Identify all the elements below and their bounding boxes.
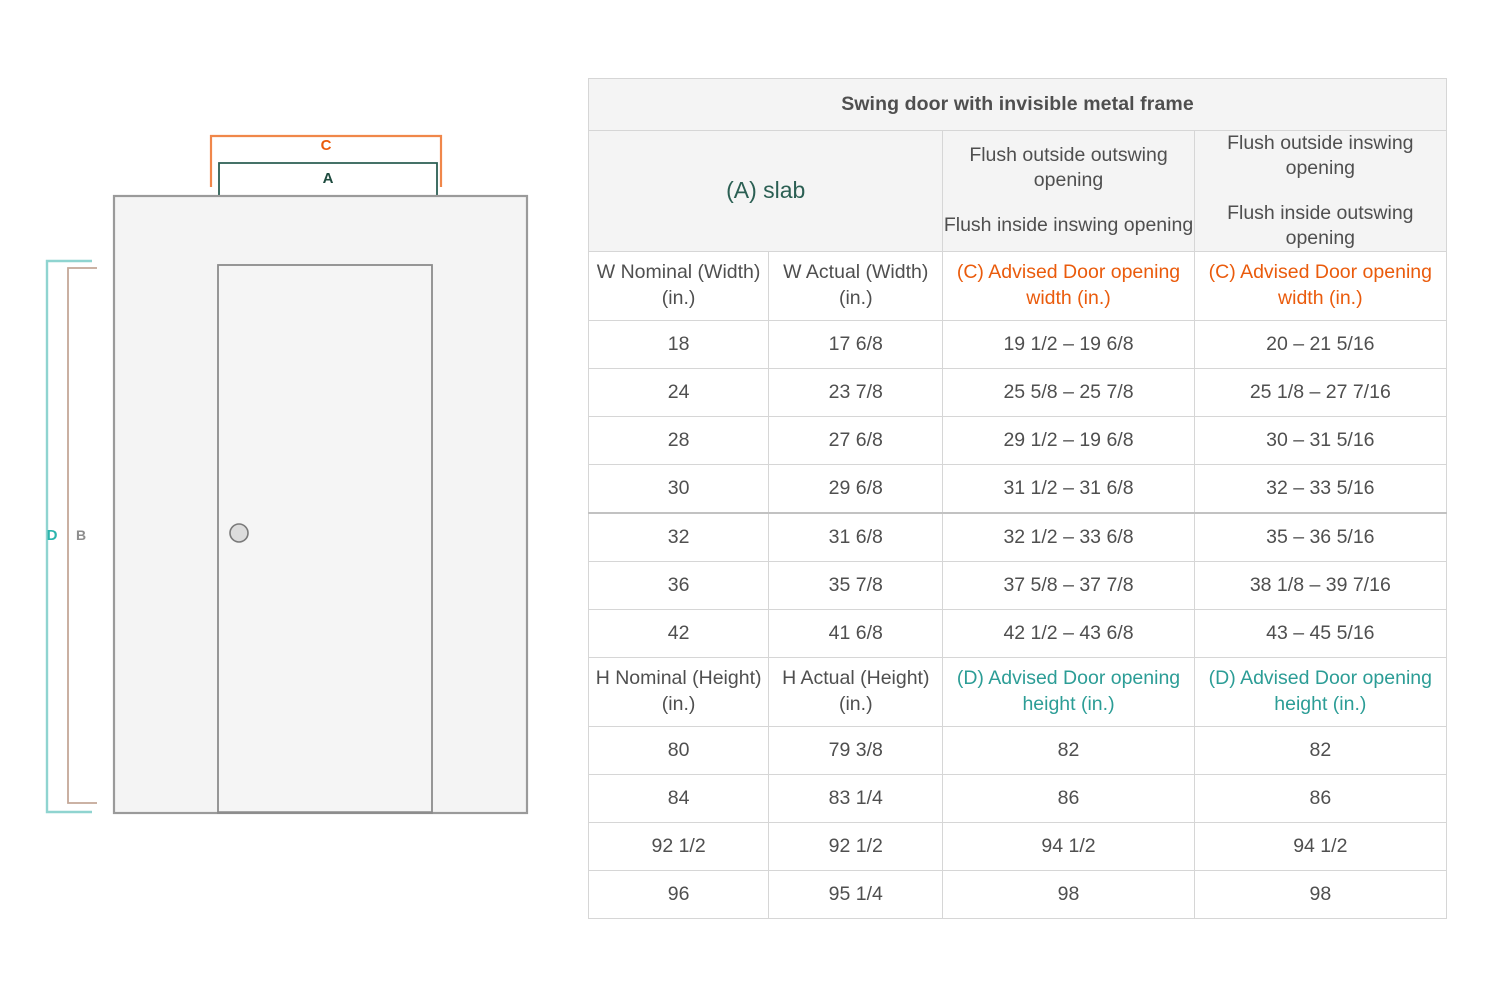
door-diagram: C A D B xyxy=(0,0,570,1000)
header-inswing-line2: Flush inside outswing opening xyxy=(1195,201,1446,251)
cell-c-outswing: 32 1/2 – 33 6/8 xyxy=(943,513,1194,562)
cell-w-actual: 41 6/8 xyxy=(769,609,943,657)
table-row: 30 29 6/8 31 1/2 – 31 6/8 32 – 33 5/16 xyxy=(589,464,1447,513)
cell-w-nominal: 24 xyxy=(589,368,769,416)
table-row: 18 17 6/8 19 1/2 – 19 6/8 20 – 21 5/16 xyxy=(589,320,1447,368)
subheader-w-actual: W Actual (Width) (in.) xyxy=(769,251,943,320)
table-title-row: Swing door with invisible metal frame xyxy=(589,79,1447,131)
cell-d-outswing: 82 xyxy=(943,726,1194,774)
cell-h-nominal: 92 1/2 xyxy=(589,822,769,870)
cell-h-nominal: 80 xyxy=(589,726,769,774)
header-outswing-line1: Flush outside outswing opening xyxy=(943,143,1193,193)
subheader-c-width-inswing: (C) Advised Door opening width (in.) xyxy=(1194,251,1446,320)
table-row: 92 1/2 92 1/2 94 1/2 94 1/2 xyxy=(589,822,1447,870)
cell-w-nominal: 30 xyxy=(589,464,769,513)
group-header-row: (A) slab Flush outside outswing opening … xyxy=(589,131,1447,252)
table-row: 36 35 7/8 37 5/8 – 37 7/8 38 1/8 – 39 7/… xyxy=(589,561,1447,609)
label-a: A xyxy=(323,170,334,187)
cell-c-inswing: 43 – 45 5/16 xyxy=(1194,609,1446,657)
cell-w-nominal: 36 xyxy=(589,561,769,609)
table-row: 28 27 6/8 29 1/2 – 19 6/8 30 – 31 5/16 xyxy=(589,416,1447,464)
cell-c-inswing: 38 1/8 – 39 7/16 xyxy=(1194,561,1446,609)
label-d: D xyxy=(47,527,58,544)
cell-w-nominal: 18 xyxy=(589,320,769,368)
cell-h-nominal: 96 xyxy=(589,870,769,918)
cell-w-actual: 17 6/8 xyxy=(769,320,943,368)
header-inswing-line1: Flush outside inswing opening xyxy=(1195,131,1446,181)
door-size-table: Swing door with invisible metal frame (A… xyxy=(588,78,1447,919)
table-row: 32 31 6/8 32 1/2 – 33 6/8 35 – 36 5/16 xyxy=(589,513,1447,562)
cell-c-outswing: 42 1/2 – 43 6/8 xyxy=(943,609,1194,657)
cell-w-actual: 31 6/8 xyxy=(769,513,943,562)
height-subheader-row: H Nominal (Height) (in.) H Actual (Heigh… xyxy=(589,657,1447,726)
cell-w-nominal: 28 xyxy=(589,416,769,464)
cell-h-nominal: 84 xyxy=(589,774,769,822)
cell-w-actual: 29 6/8 xyxy=(769,464,943,513)
table-row: 24 23 7/8 25 5/8 – 25 7/8 25 1/8 – 27 7/… xyxy=(589,368,1447,416)
cell-c-outswing: 25 5/8 – 25 7/8 xyxy=(943,368,1194,416)
subheader-d-height-outswing: (D) Advised Door opening height (in.) xyxy=(943,657,1194,726)
subheader-d-height-inswing: (D) Advised Door opening height (in.) xyxy=(1194,657,1446,726)
cell-d-inswing: 94 1/2 xyxy=(1194,822,1446,870)
subheader-w-nominal: W Nominal (Width) (in.) xyxy=(589,251,769,320)
cell-w-actual: 27 6/8 xyxy=(769,416,943,464)
cell-h-actual: 92 1/2 xyxy=(769,822,943,870)
spec-table-container: Swing door with invisible metal frame (A… xyxy=(588,78,1447,919)
cell-d-inswing: 98 xyxy=(1194,870,1446,918)
cell-c-inswing: 20 – 21 5/16 xyxy=(1194,320,1446,368)
cell-w-nominal: 42 xyxy=(589,609,769,657)
cell-c-inswing: 35 – 36 5/16 xyxy=(1194,513,1446,562)
door-handle xyxy=(230,524,248,542)
cell-d-inswing: 86 xyxy=(1194,774,1446,822)
subheader-c-width-outswing: (C) Advised Door opening width (in.) xyxy=(943,251,1194,320)
table-title: Swing door with invisible metal frame xyxy=(589,79,1447,131)
subheader-h-actual: H Actual (Height) (in.) xyxy=(769,657,943,726)
cell-d-outswing: 98 xyxy=(943,870,1194,918)
cell-c-inswing: 32 – 33 5/16 xyxy=(1194,464,1446,513)
cell-c-outswing: 31 1/2 – 31 6/8 xyxy=(943,464,1194,513)
label-b: B xyxy=(76,527,86,543)
table-row: 84 83 1/4 86 86 xyxy=(589,774,1447,822)
cell-d-outswing: 86 xyxy=(943,774,1194,822)
header-inswing-group: Flush outside inswing opening Flush insi… xyxy=(1194,131,1446,252)
cell-c-outswing: 29 1/2 – 19 6/8 xyxy=(943,416,1194,464)
header-slab: (A) slab xyxy=(589,131,943,252)
header-outswing-line2: Flush inside inswing opening xyxy=(943,213,1193,238)
cell-w-actual: 35 7/8 xyxy=(769,561,943,609)
cell-h-actual: 79 3/8 xyxy=(769,726,943,774)
cell-h-actual: 83 1/4 xyxy=(769,774,943,822)
subheader-h-nominal: H Nominal (Height) (in.) xyxy=(589,657,769,726)
door-slab xyxy=(218,265,432,813)
cell-c-inswing: 30 – 31 5/16 xyxy=(1194,416,1446,464)
label-c: C xyxy=(321,137,332,154)
table-row: 42 41 6/8 42 1/2 – 43 6/8 43 – 45 5/16 xyxy=(589,609,1447,657)
cell-c-outswing: 37 5/8 – 37 7/8 xyxy=(943,561,1194,609)
cell-d-outswing: 94 1/2 xyxy=(943,822,1194,870)
header-outswing-group: Flush outside outswing opening Flush ins… xyxy=(943,131,1194,252)
width-subheader-row: W Nominal (Width) (in.) W Actual (Width)… xyxy=(589,251,1447,320)
cell-c-outswing: 19 1/2 – 19 6/8 xyxy=(943,320,1194,368)
cell-c-inswing: 25 1/8 – 27 7/16 xyxy=(1194,368,1446,416)
table-row: 80 79 3/8 82 82 xyxy=(589,726,1447,774)
cell-h-actual: 95 1/4 xyxy=(769,870,943,918)
cell-w-actual: 23 7/8 xyxy=(769,368,943,416)
cell-w-nominal: 32 xyxy=(589,513,769,562)
cell-d-inswing: 82 xyxy=(1194,726,1446,774)
table-row: 96 95 1/4 98 98 xyxy=(589,870,1447,918)
